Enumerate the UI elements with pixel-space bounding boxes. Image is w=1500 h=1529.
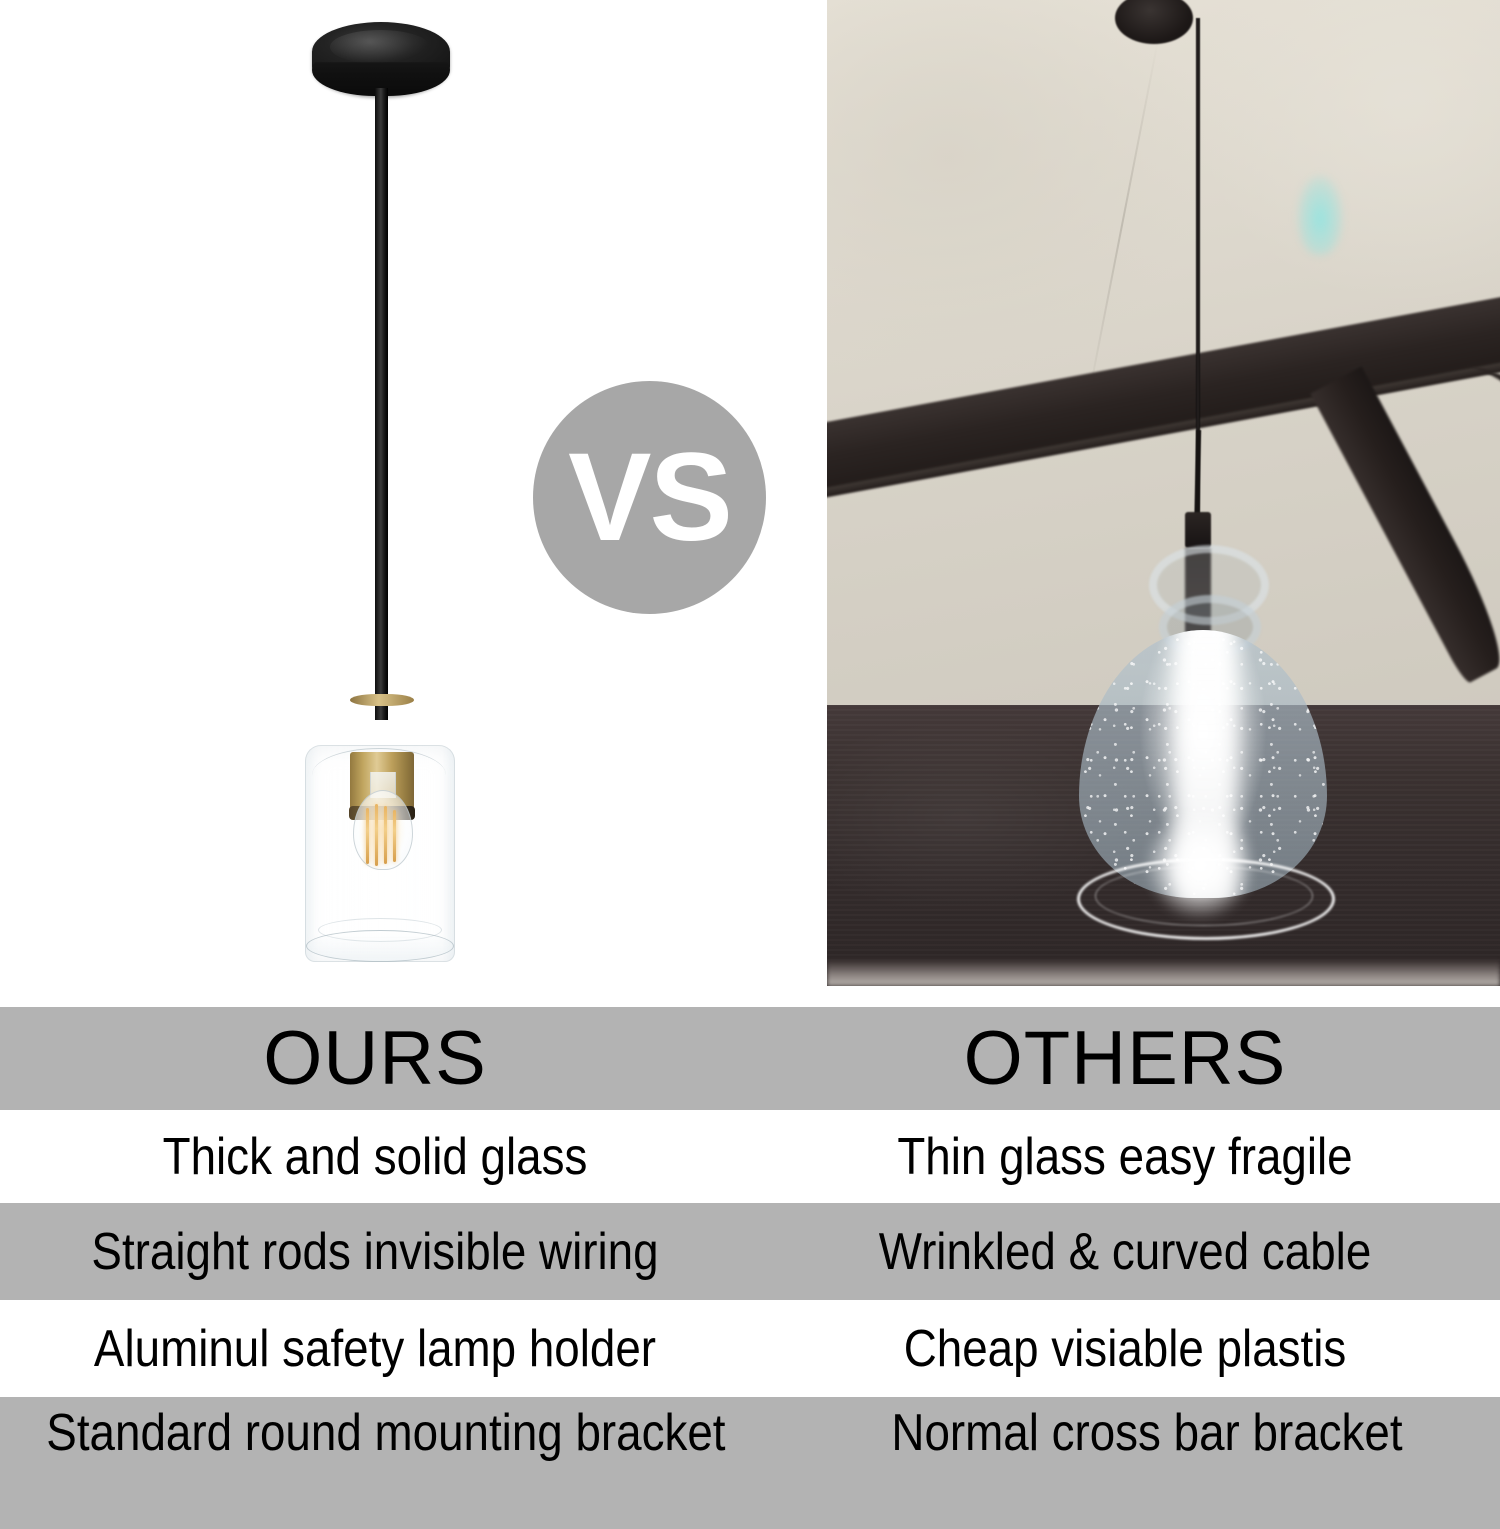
table-row: Straight rods invisible wiring Wrinkled …	[0, 1203, 1500, 1300]
comparison-table: OURS OTHERS Thick and solid glass Thin g…	[0, 1007, 1500, 1500]
filament-strand	[366, 808, 369, 864]
canopy-highlight	[330, 30, 430, 64]
beam-brace-curve	[1362, 356, 1500, 580]
cell-others: Wrinkled & curved cable	[795, 1203, 1455, 1300]
teal-light-reflection	[1297, 175, 1343, 255]
table-row: Standard round mounting bracket Normal c…	[0, 1397, 1500, 1529]
seeded-glass-inner-rim	[1095, 866, 1313, 926]
cell-others: Normal cross bar bracket	[817, 1397, 1477, 1529]
vs-badge: VS	[533, 381, 766, 614]
header-others: OTHERS	[750, 1007, 1500, 1110]
filament-strand	[375, 804, 378, 866]
cell-ours: Aluminul safety lamp holder	[45, 1300, 705, 1397]
cell-ours: Thick and solid glass	[45, 1110, 705, 1203]
straight-black-rod	[375, 88, 388, 720]
cell-ours: Standard round mounting bracket	[46, 1397, 725, 1529]
photo-plastic-socket	[1185, 512, 1211, 548]
filament-strand	[393, 810, 396, 862]
table-header-row: OURS OTHERS	[0, 1007, 1500, 1110]
cell-others: Cheap visiable plastis	[795, 1300, 1455, 1397]
vs-badge-label: VS	[568, 435, 731, 560]
cell-others: Thin glass easy fragile	[795, 1110, 1455, 1203]
header-ours: OURS	[0, 1007, 750, 1110]
table-row: Thick and solid glass Thin glass easy fr…	[0, 1110, 1500, 1203]
photo-wall-baseline	[827, 960, 1500, 986]
filament-strand	[384, 806, 387, 864]
others-product-photo	[827, 0, 1500, 986]
cell-ours: Straight rods invisible wiring	[45, 1203, 705, 1300]
table-row: Aluminul safety lamp holder Cheap visiab…	[0, 1300, 1500, 1397]
comparison-hero: VS	[0, 0, 1500, 1007]
glass-bottom-rim	[306, 930, 454, 962]
